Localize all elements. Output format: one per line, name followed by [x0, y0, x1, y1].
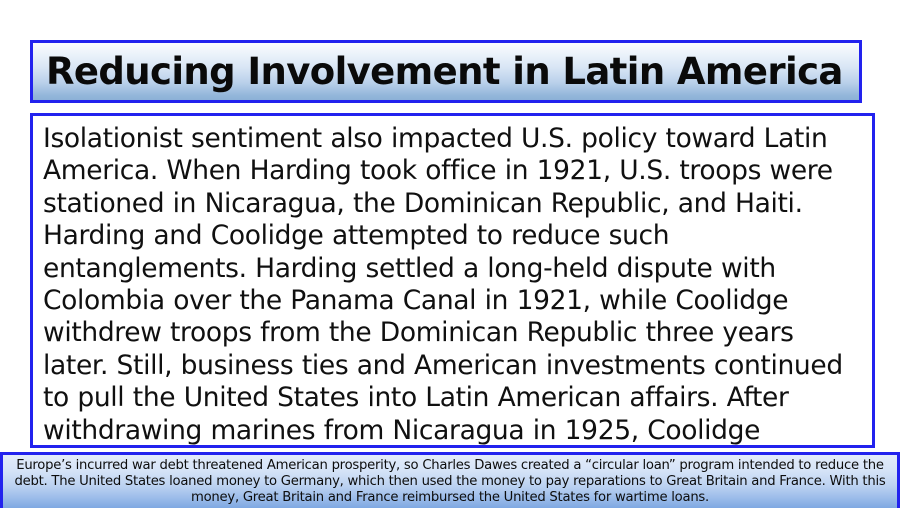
footer-note-text: Europe’s incurred war debt threatened Am… [3, 455, 897, 507]
page-title: Reducing Involvement in Latin America [33, 53, 843, 90]
slide-canvas: Reducing Involvement in Latin America Is… [0, 0, 900, 506]
body-paragraph: Isolationist sentiment also impacted U.S… [33, 116, 872, 448]
footer-note-banner: Europe’s incurred war debt threatened Am… [0, 452, 900, 508]
slide-body-box: Isolationist sentiment also impacted U.S… [30, 113, 875, 448]
slide-title-box: Reducing Involvement in Latin America [30, 40, 862, 103]
